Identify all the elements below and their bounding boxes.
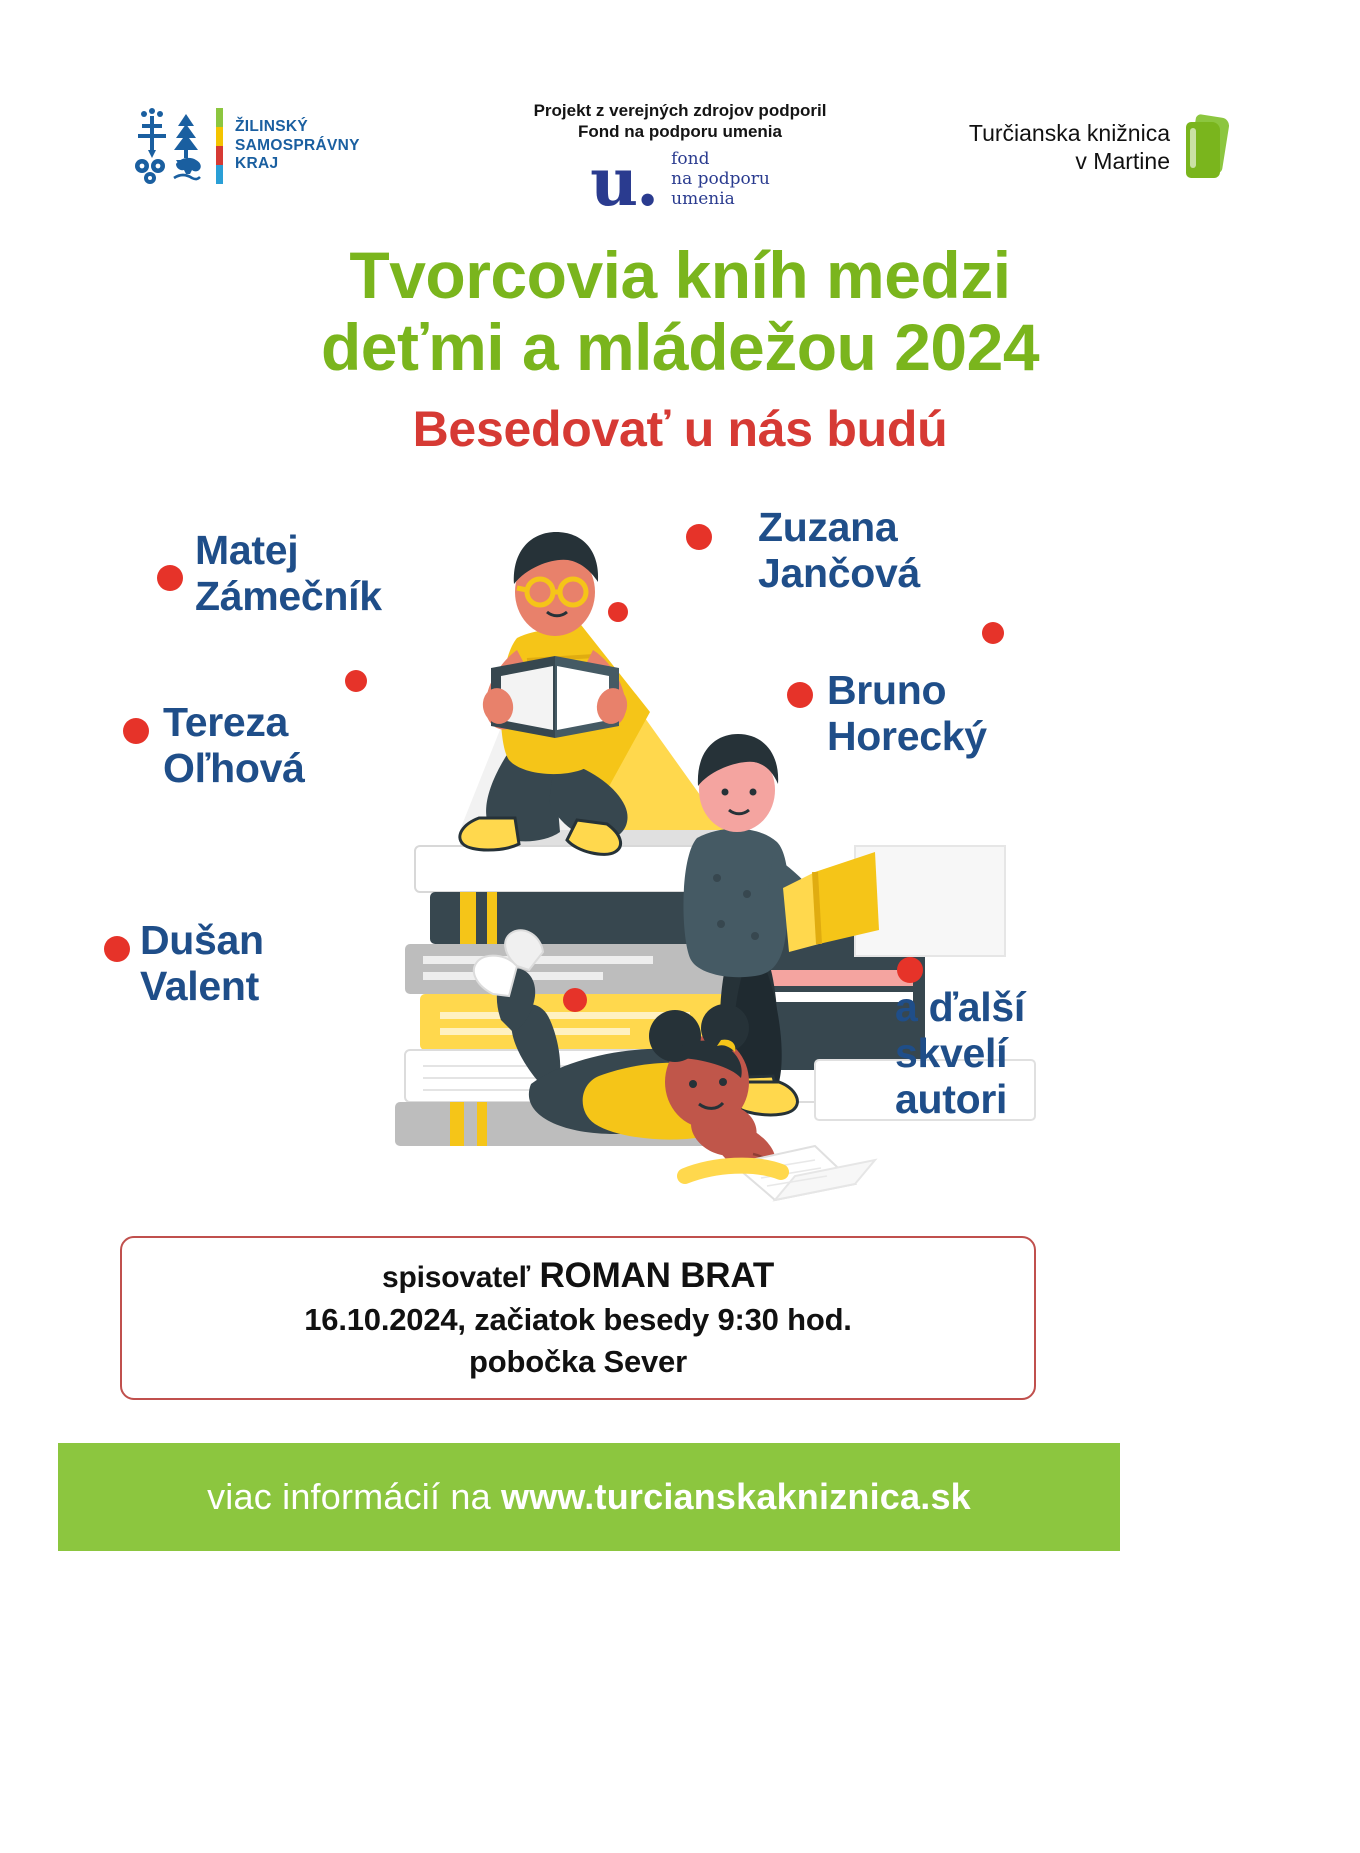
author-line-1: Bruno (827, 668, 987, 714)
author-line-2: Horecký (827, 714, 987, 760)
event-author-lead: spisovateľ (382, 1261, 530, 1294)
author-name-dusan-valent: Dušan Valent (140, 918, 264, 1010)
poster: ŽILINSKÝ SAMOSPRÁVNY KRAJ Projekt z vere… (0, 0, 1360, 1853)
more-line-1: a ďalší (895, 985, 1025, 1031)
library-line-1: Turčianska knižnica (969, 119, 1170, 147)
bullet-dot (897, 957, 923, 983)
footer-bar: viac informácií na www.turcianskakniznic… (58, 1443, 1120, 1551)
author-line-2: Jančová (758, 551, 920, 597)
author-name-more-authors: a ďalší skvelí autori (895, 985, 1025, 1123)
footer-url[interactable]: www.turcianskakniznica.sk (501, 1476, 971, 1517)
footer-prefix: viac informácií na (207, 1476, 501, 1517)
event-info-box: spisovateľ ROMAN BRAT 16.10.2024, začiat… (120, 1236, 1036, 1400)
author-line-1: Zuzana (758, 505, 920, 551)
footer-text: viac informácií na www.turcianskakniznic… (207, 1476, 971, 1518)
bullet-dot (686, 524, 712, 550)
fpu-u-mark: u. (590, 158, 657, 208)
event-author-name: ROMAN BRAT (539, 1256, 774, 1295)
event-author-line: spisovateľ ROMAN BRAT (382, 1256, 774, 1296)
event-date-time: 16.10.2024, začiatok besedy 9:30 hod. (304, 1302, 851, 1338)
bullet-dot (787, 682, 813, 708)
decorative-dot (563, 988, 587, 1012)
author-line-1: Tereza (163, 700, 305, 746)
bullet-dot (157, 565, 183, 591)
more-line-3: autori (895, 1077, 1025, 1123)
author-line-2: Zámečník (195, 574, 382, 620)
library-wordmark: Turčianska knižnica v Martine (969, 119, 1170, 175)
author-name-tereza-olhova: Tereza Oľhová (163, 700, 305, 792)
fpu-word-2: na podporu (671, 169, 770, 189)
page-title-line-2: deťmi a mládežou 2024 (0, 312, 1360, 383)
decorative-dot (982, 622, 1004, 644)
decorative-dot (608, 602, 628, 622)
turcianska-kniznica-logo: Turčianska knižnica v Martine (969, 116, 1230, 178)
fpu-word-1: fond (671, 149, 770, 169)
book-icon (1184, 116, 1230, 178)
author-name-bruno-horecky: Bruno Horecký (827, 668, 987, 760)
page-title-line-1: Tvorcovia kníh medzi (0, 240, 1360, 311)
bullet-dot (123, 718, 149, 744)
fpu-word-3: umenia (671, 189, 770, 209)
author-line-2: Oľhová (163, 746, 305, 792)
author-line-1: Dušan (140, 918, 264, 964)
header-logos: ŽILINSKÝ SAMOSPRÁVNY KRAJ Projekt z vere… (0, 100, 1360, 220)
author-line-1: Matej (195, 528, 382, 574)
author-name-zuzana-jancova: Zuzana Jančová (758, 505, 920, 597)
more-line-2: skvelí (895, 1031, 1025, 1077)
author-name-matej-zamecnik: Matej Zámečník (195, 528, 382, 620)
library-line-2: v Martine (969, 147, 1170, 175)
fpu-wordmark: fond na podporu umenia (671, 149, 770, 209)
bullet-dot (104, 936, 130, 962)
event-location: pobočka Sever (469, 1344, 687, 1380)
decorative-dot (345, 670, 367, 692)
author-line-2: Valent (140, 964, 264, 1010)
page-subtitle: Besedovať u nás budú (0, 400, 1360, 458)
